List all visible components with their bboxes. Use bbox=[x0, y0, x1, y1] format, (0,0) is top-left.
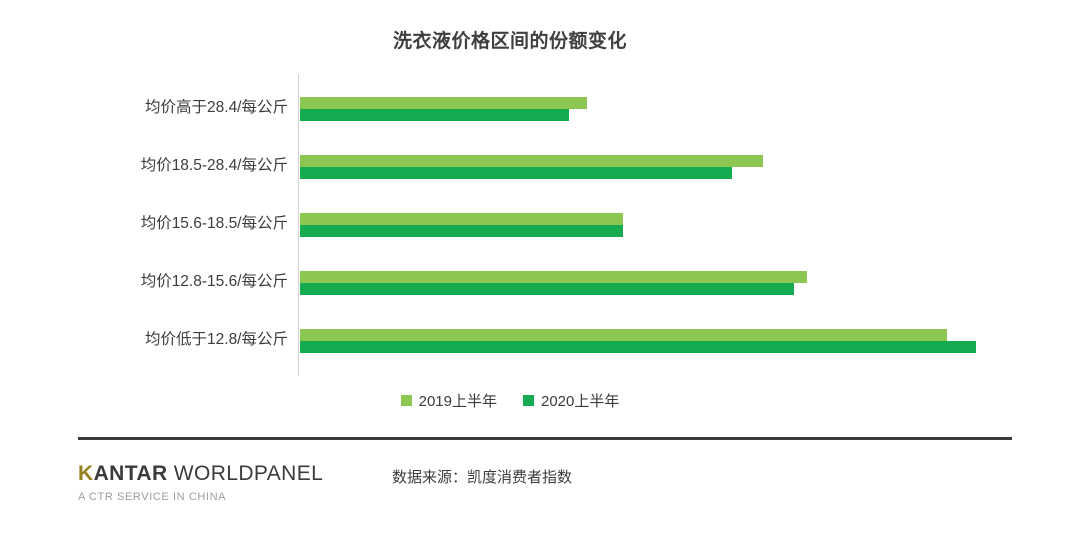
bar-1 bbox=[300, 225, 623, 237]
brand-kantar: ANTAR bbox=[94, 462, 168, 485]
data-source-note: 数据来源：凯度消费者指数 bbox=[392, 466, 572, 487]
bar-0 bbox=[300, 329, 947, 341]
bar-group: 均价15.6-18.5/每公斤 bbox=[0, 198, 1080, 256]
bar-0 bbox=[300, 97, 587, 109]
kantar-worldpanel-logo: KANTAR WORLDPANEL A CTR SERVICE IN CHINA bbox=[78, 462, 323, 503]
legend-item[interactable]: 2020上半年 bbox=[523, 390, 619, 411]
bar-group-list: 均价高于28.4/每公斤均价18.5-28.4/每公斤均价15.6-18.5/每… bbox=[0, 74, 1080, 376]
bar-1 bbox=[300, 109, 569, 121]
category-label: 均价15.6-18.5/每公斤 bbox=[60, 211, 288, 233]
chart-title: 洗衣液价格区间的份额变化 bbox=[0, 26, 1020, 53]
bar-1 bbox=[300, 167, 732, 179]
chart-footer: KANTAR WORLDPANEL A CTR SERVICE IN CHINA… bbox=[0, 452, 1080, 532]
category-label: 均价12.8-15.6/每公斤 bbox=[60, 269, 288, 291]
brand-name: KANTAR WORLDPANEL bbox=[78, 462, 323, 485]
category-label: 均价高于28.4/每公斤 bbox=[60, 95, 288, 117]
category-label: 均价18.5-28.4/每公斤 bbox=[60, 153, 288, 175]
legend-label: 2019上半年 bbox=[419, 390, 497, 411]
bar-group: 均价低于12.8/每公斤 bbox=[0, 314, 1080, 372]
chart-legend: 2019上半年2020上半年 bbox=[0, 390, 1020, 411]
bar-group: 均价18.5-28.4/每公斤 bbox=[0, 140, 1080, 198]
legend-item[interactable]: 2019上半年 bbox=[401, 390, 497, 411]
chart-plot-area: 均价高于28.4/每公斤均价18.5-28.4/每公斤均价15.6-18.5/每… bbox=[0, 74, 1080, 380]
bar-0 bbox=[300, 213, 623, 225]
brand-tagline: A CTR SERVICE IN CHINA bbox=[78, 491, 323, 503]
bar-1 bbox=[300, 283, 794, 295]
legend-label: 2020上半年 bbox=[541, 390, 619, 411]
brand-initial: K bbox=[78, 462, 94, 485]
brand-worldpanel: WORLDPANEL bbox=[168, 462, 324, 485]
bar-1 bbox=[300, 341, 976, 353]
bar-0 bbox=[300, 155, 763, 167]
footer-divider bbox=[78, 437, 1012, 440]
legend-swatch-icon bbox=[401, 395, 412, 406]
legend-swatch-icon bbox=[523, 395, 534, 406]
category-label: 均价低于12.8/每公斤 bbox=[60, 327, 288, 349]
bar-group: 均价12.8-15.6/每公斤 bbox=[0, 256, 1080, 314]
bar-0 bbox=[300, 271, 807, 283]
bar-group: 均价高于28.4/每公斤 bbox=[0, 82, 1080, 140]
